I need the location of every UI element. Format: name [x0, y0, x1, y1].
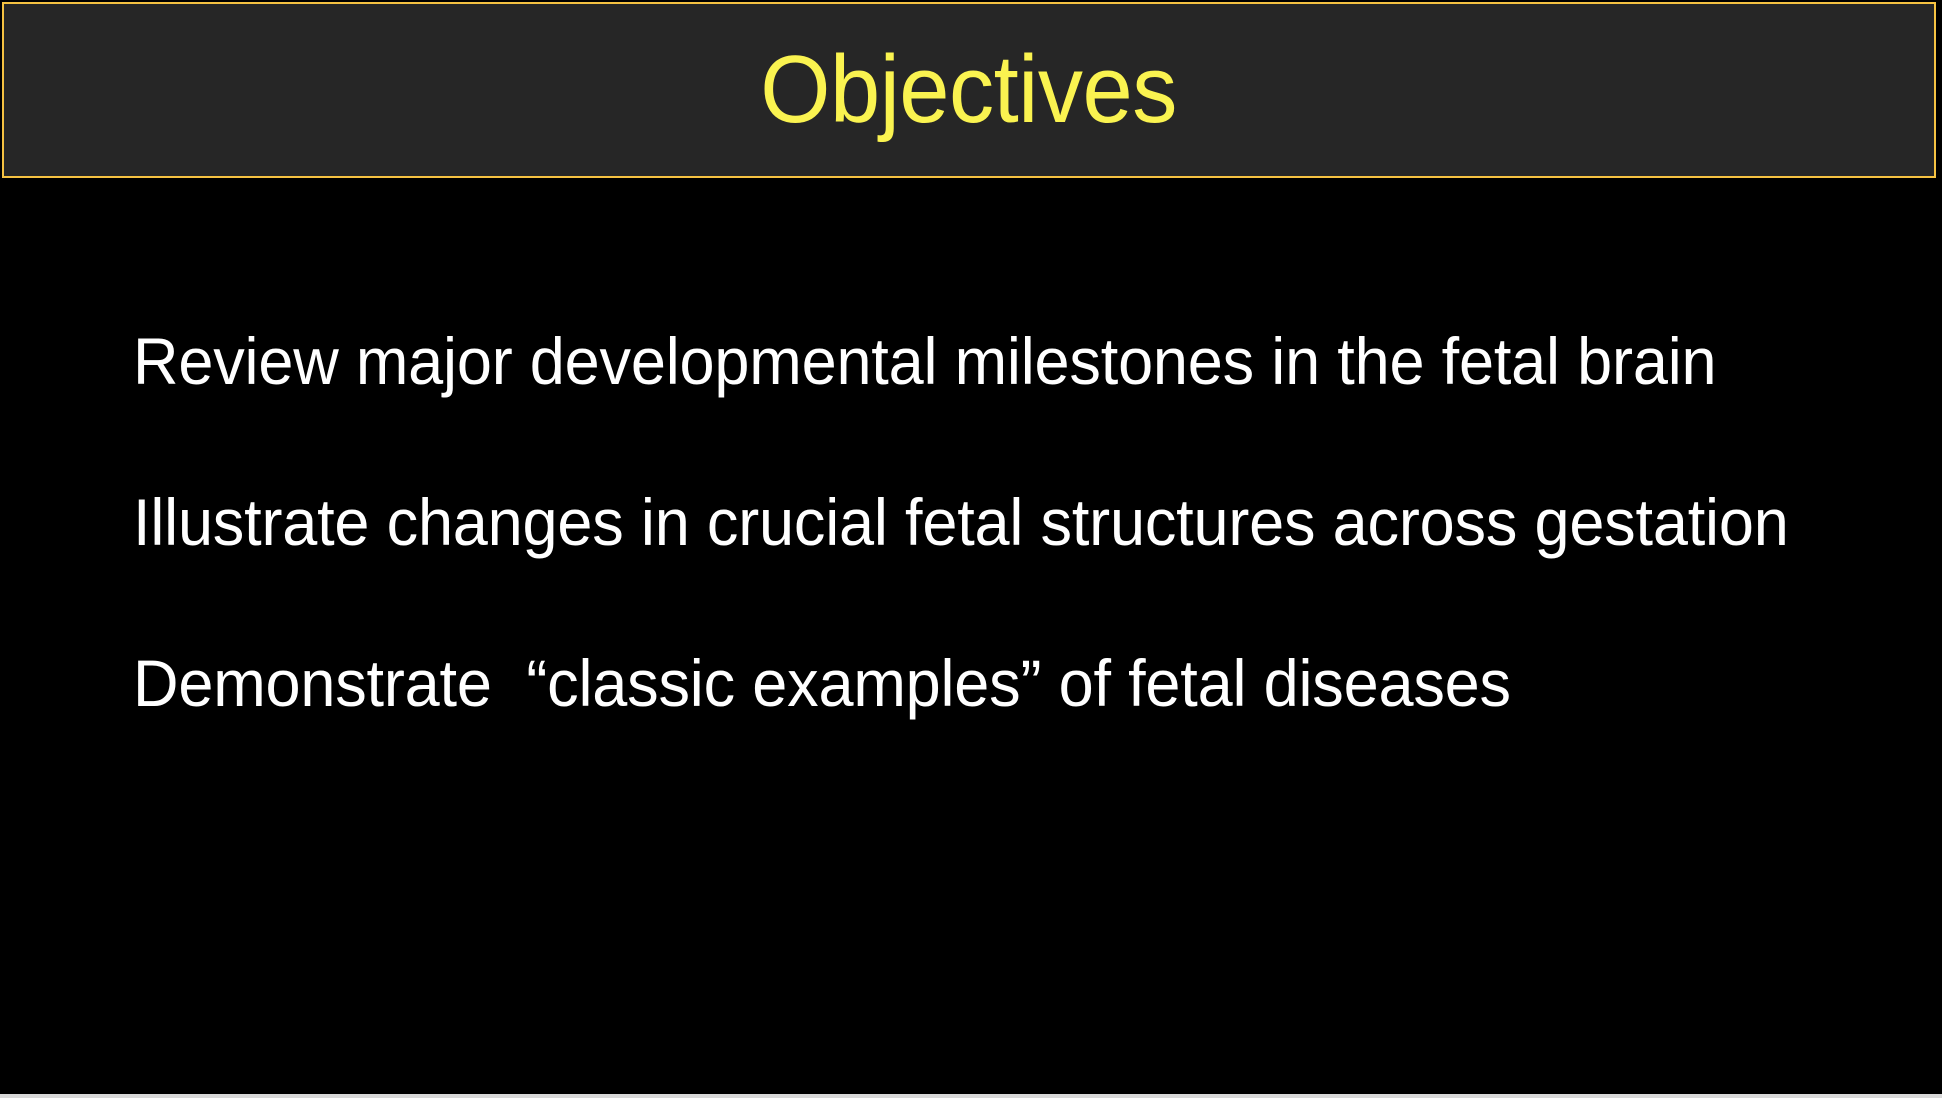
objectives-list: Review major developmental milestones in…: [133, 328, 1893, 716]
slide-title-bar: Objectives: [2, 2, 1936, 178]
list-item: Illustrate changes in crucial fetal stru…: [133, 489, 1814, 555]
slide-bottom-edge: [0, 1094, 1942, 1098]
slide-body: Review major developmental milestones in…: [0, 182, 1942, 1098]
list-item: Demonstrate “classic examples” of fetal …: [133, 650, 1814, 716]
presentation-slide: Objectives Review major developmental mi…: [0, 0, 1942, 1098]
slide-title: Objectives: [761, 42, 1178, 138]
list-item: Review major developmental milestones in…: [133, 328, 1814, 394]
